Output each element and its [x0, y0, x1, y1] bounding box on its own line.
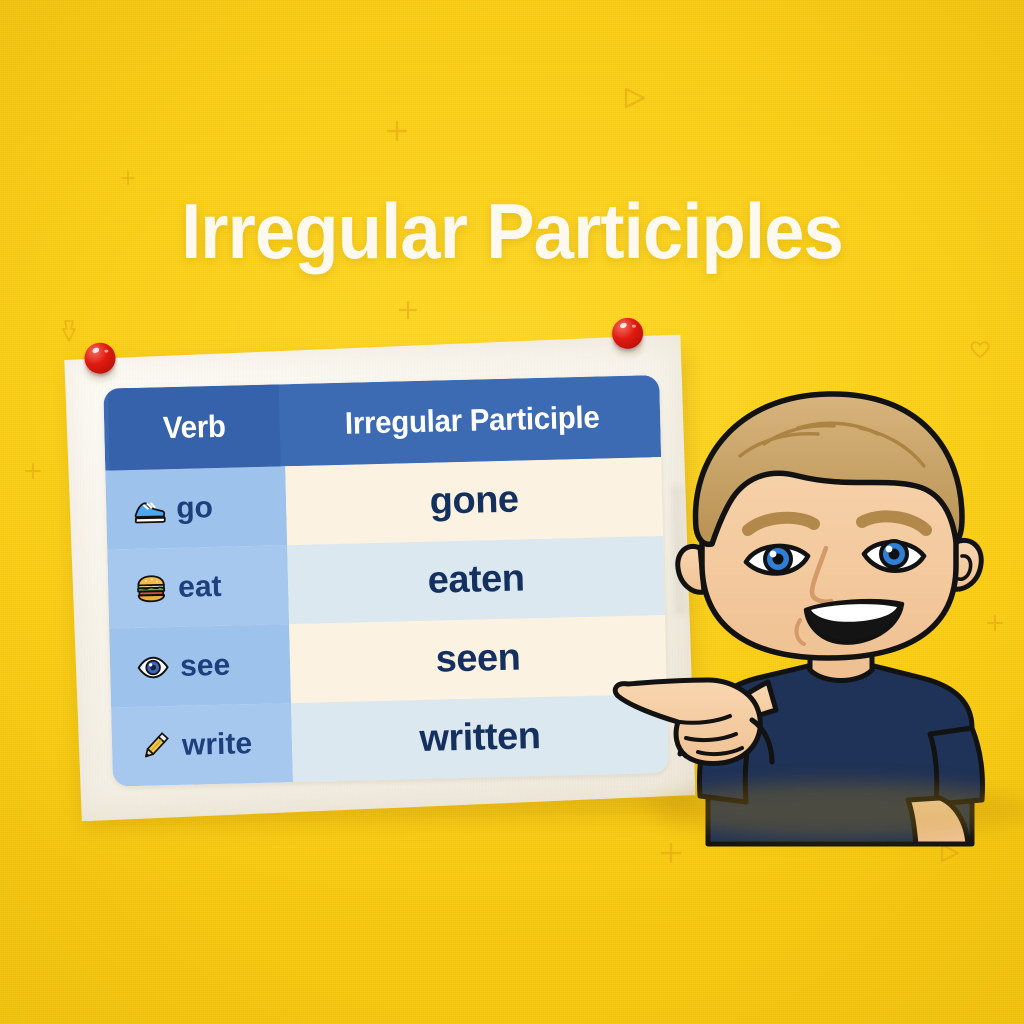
- table-row: go gone: [105, 457, 663, 550]
- cell-participle: seen: [289, 615, 667, 703]
- verb-label: see: [180, 648, 231, 683]
- column-header-participle: Irregular Participle: [293, 375, 652, 466]
- pencil-icon: [138, 729, 173, 764]
- table-row: write written: [111, 694, 669, 787]
- cell-verb: see: [109, 624, 291, 707]
- verb-label: eat: [178, 569, 222, 604]
- pin-left: [84, 342, 119, 377]
- participles-table: Verb Irregular Participle go gone eat: [103, 375, 669, 786]
- sneaker-icon: [132, 492, 167, 527]
- character-shadow: [652, 782, 1024, 838]
- pin-right: [612, 317, 647, 352]
- page-title: Irregular Participles: [36, 186, 988, 277]
- cell-participle: gone: [285, 457, 663, 545]
- burger-icon: [134, 571, 169, 606]
- cell-verb: eat: [107, 545, 289, 628]
- table-header-row: Verb Irregular Participle: [103, 375, 661, 471]
- cell-participle: eaten: [287, 536, 665, 624]
- cartoon-boy-pointing: [612, 352, 1024, 852]
- verb-label: go: [176, 491, 213, 526]
- column-header-verb: Verb: [108, 384, 281, 470]
- cell-verb: write: [111, 703, 293, 786]
- eye-icon: [136, 650, 171, 685]
- illustration-canvas: Irregular Participles Verb Irregular Par…: [0, 0, 1024, 1024]
- cell-verb: go: [105, 466, 287, 549]
- character-artwork: [612, 352, 1024, 852]
- table-row: eat eaten: [107, 536, 665, 629]
- verb-label: write: [182, 727, 253, 763]
- table-row: see seen: [109, 615, 667, 708]
- poster: Verb Irregular Participle go gone eat: [60, 334, 695, 821]
